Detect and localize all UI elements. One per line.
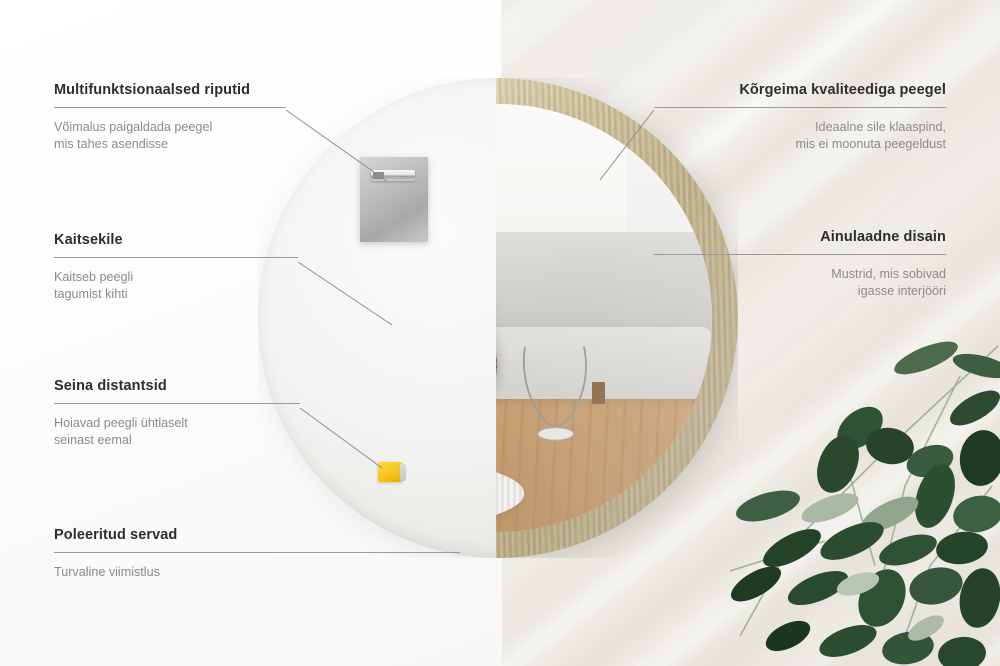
callout-wall-spacers: Seina distantsid Hoiavad peegli ühtlasel… [54, 378, 300, 450]
callout-title: Kõrgeima kvaliteediga peegel [654, 82, 946, 98]
callout-highest-quality-mirror: Kõrgeima kvaliteediga peegel Ideaalne si… [654, 82, 946, 154]
infographic-canvas: Multifunktsionaalsed riputid Võimalus pa… [0, 0, 1000, 666]
callout-rule [54, 107, 286, 108]
callout-description: Hoiavad peegli ühtlaselt seinast eemal [54, 415, 300, 450]
foliage-branch [730, 336, 1000, 666]
callout-title: Seina distantsid [54, 378, 300, 394]
callout-rule [54, 552, 460, 553]
callout-unique-design: Ainulaadne disain Mustrid, mis sobivad i… [654, 229, 946, 301]
callout-title: Kaitsekile [54, 232, 298, 248]
callout-multifunctional-hangers: Multifunktsionaalsed riputid Võimalus pa… [54, 82, 286, 154]
callout-polished-edges: Poleeritud servad Turvaline viimistlus [54, 527, 460, 581]
callout-rule [654, 107, 946, 108]
callout-title: Multifunktsionaalsed riputid [54, 82, 286, 98]
callout-description: Kaitseb peegli tagumist kihti [54, 269, 298, 304]
wall-spacer-face [400, 464, 406, 481]
reflected-wire-decoration [515, 344, 596, 447]
callout-title: Poleeritud servad [54, 527, 460, 543]
callout-description: Mustrid, mis sobivad igasse interjööri [654, 266, 946, 301]
callout-rule [54, 403, 300, 404]
callout-title: Ainulaadne disain [654, 229, 946, 245]
multifunctional-hanger-plate [360, 157, 428, 242]
callout-description: Ideaalne sile klaaspind, mis ei moonuta … [654, 119, 946, 154]
callout-rule [654, 254, 946, 255]
callout-description: Võimalus paigaldada peegel mis tahes ase… [54, 119, 286, 154]
hanger-slot [373, 172, 384, 179]
wall-spacer-yellow [378, 462, 402, 482]
callout-rule [54, 257, 298, 258]
callout-description: Turvaline viimistlus [54, 564, 460, 581]
callout-protective-film: Kaitsekile Kaitseb peegli tagumist kihti [54, 232, 298, 304]
